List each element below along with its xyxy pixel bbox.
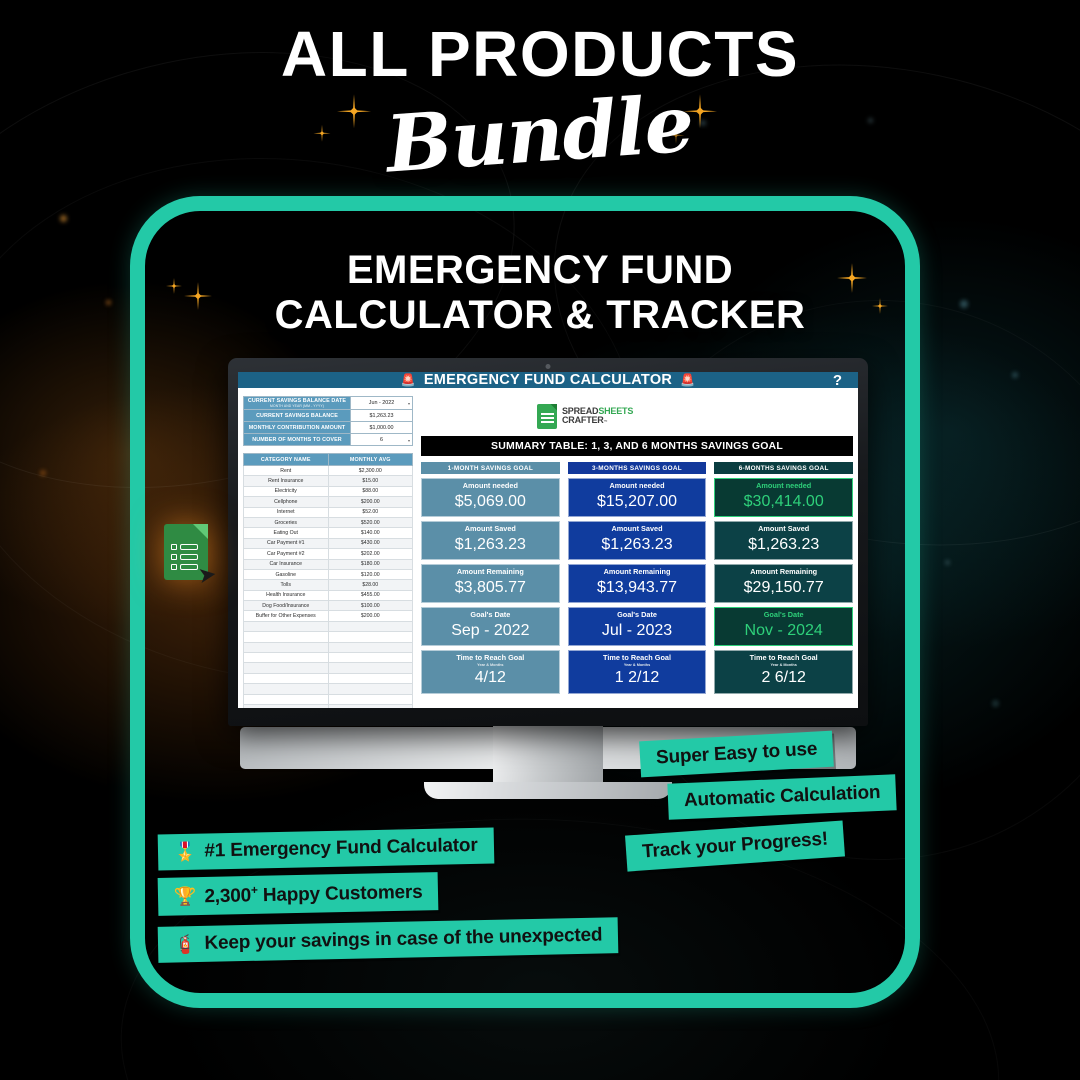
input-row: Current Savings Balance$1,263.23 (244, 410, 413, 422)
category-name-cell: Cellphone (244, 497, 329, 507)
table-row-empty (244, 621, 413, 631)
monitor-neck (493, 726, 603, 782)
summary-cell-label: Amount Saved (422, 525, 559, 534)
input-value-cell[interactable]: $1,000.00 (351, 422, 413, 434)
category-amount-cell: $455.00 (328, 590, 413, 600)
summary-cell: Amount Saved$1,263.23 (714, 521, 853, 560)
empty-cell (244, 663, 329, 673)
summary-cards: 1-MONTH SAVINGS GOALAmount needed$5,069.… (421, 462, 853, 708)
sheets-rows (171, 544, 198, 570)
empty-cell (244, 632, 329, 642)
table-row: Rent$2,300.00 (244, 466, 413, 476)
logo-fold (550, 404, 557, 411)
summary-cell-label: Amount Remaining (569, 568, 706, 577)
summary-cell: Amount Remaining$3,805.77 (421, 564, 560, 603)
summary-cell-value: Jul - 2023 (569, 621, 706, 640)
chevron-down-icon: ▾ (408, 438, 410, 443)
badge-label: Track your Progress! (641, 829, 828, 864)
summary-cell-value: 4/12 (422, 668, 559, 687)
empty-cell (244, 684, 329, 694)
headline-bundle-row: Bundle (0, 89, 1080, 181)
trophy-icon: 🏆 (174, 887, 197, 905)
summary-cell-value: $15,207.00 (569, 492, 706, 511)
categories-header-row: CATEGORY NAME MONTHLY AVG (244, 454, 413, 466)
badge-label: 2,300+ Happy Customers (204, 879, 423, 908)
summary-cell-value: $13,943.77 (569, 578, 706, 597)
empty-cell (328, 621, 413, 631)
summary-cell-value: $1,263.23 (715, 535, 852, 554)
category-name-cell: Dog Food/Insurance (244, 601, 329, 611)
summary-cell-value: $29,150.77 (715, 578, 852, 597)
headline-bundle: Bundle (384, 79, 697, 191)
summary-cell: Goal's DateNov - 2024 (714, 607, 853, 646)
summary-cell-label: Time to Reach GoalYear & Months (715, 654, 852, 668)
category-name-cell: Health Insurance (244, 590, 329, 600)
category-amount-cell: $120.00 (328, 569, 413, 579)
summary-cell: Amount Remaining$29,150.77 (714, 564, 853, 603)
table-row: Dog Food/Insurance$100.00 (244, 601, 413, 611)
table-row-empty (244, 673, 413, 683)
help-button[interactable]: ? (833, 372, 842, 389)
empty-cell (328, 704, 413, 708)
summary-cell-value: Nov - 2024 (715, 621, 852, 640)
app-title: EMERGENCY FUND CALCULATOR (424, 372, 672, 388)
category-name-cell: Buffer for Other Expenses (244, 611, 329, 621)
badge-label: Keep your savings in case of the unexpec… (204, 925, 602, 955)
summary-cell-label: Time to Reach GoalYear & Months (422, 654, 559, 668)
badge-label: Super Easy to use (656, 739, 818, 770)
summary-cell: Amount Saved$1,263.23 (421, 521, 560, 560)
empty-cell (328, 684, 413, 694)
summary-cell-value: $1,263.23 (569, 535, 706, 554)
table-row-empty (244, 642, 413, 652)
empty-cell (328, 642, 413, 652)
product-title-line2: CALCULATOR & TRACKER (0, 293, 1080, 338)
product-title: EMERGENCY FUND CALCULATOR & TRACKER (0, 248, 1080, 338)
fire-extinguisher-icon: 🧯 (174, 935, 197, 953)
category-name-cell: Rent (244, 466, 329, 476)
category-amount-cell: $140.00 (328, 528, 413, 538)
category-amount-cell: $15.00 (328, 476, 413, 486)
summary-cell-label: Time to Reach GoalYear & Months (569, 654, 706, 668)
badge-number-one-calculator: 🎖️ #1 Emergency Fund Calculator (158, 827, 494, 870)
category-name-cell: Electricity (244, 486, 329, 496)
category-name-cell: Eating Out (244, 528, 329, 538)
category-amount-cell: $200.00 (328, 497, 413, 507)
summary-cell-label: Amount Remaining (715, 568, 852, 577)
category-amount-cell: $520.00 (328, 517, 413, 527)
monitor-bezel: 🚨 EMERGENCY FUND CALCULATOR 🚨 ? Current … (228, 358, 868, 726)
summary-cell: Amount needed$15,207.00 (568, 478, 707, 517)
summary-cell: Amount needed$30,414.00 (714, 478, 853, 517)
spreadsheet-body: Current Savings Balance DateMONTH AND YE… (238, 390, 858, 708)
summary-card: 3-MONTHS SAVINGS GOALAmount needed$15,20… (568, 462, 707, 708)
category-amount-cell: $52.00 (328, 507, 413, 517)
summary-cell-label: Amount Saved (569, 525, 706, 534)
spreadsheet-logo-icon (537, 404, 557, 429)
monitor: 🚨 EMERGENCY FUND CALCULATOR 🚨 ? Current … (228, 358, 868, 799)
summary-cell: Amount Remaining$13,943.77 (568, 564, 707, 603)
table-row: Car Insurance$180.00 (244, 559, 413, 569)
logo-lines (541, 413, 554, 424)
bokeh-dot (1012, 372, 1018, 378)
summary-card-header: 3-MONTHS SAVINGS GOAL (568, 462, 707, 474)
table-row: Internet$52.00 (244, 507, 413, 517)
table-row: Groceries$520.00 (244, 517, 413, 527)
empty-cell (244, 653, 329, 663)
monitor-base (424, 782, 672, 799)
summary-cell-label: Amount needed (422, 482, 559, 491)
category-name-cell: Car Payment #2 (244, 549, 329, 559)
summary-cell-label: Amount needed (569, 482, 706, 491)
empty-cell (328, 663, 413, 673)
category-amount-cell: $2,300.00 (328, 466, 413, 476)
summary-cell-value: $1,263.23 (422, 535, 559, 554)
customers-count: 2,300 (204, 885, 251, 907)
empty-cell (244, 642, 329, 652)
input-label: Current Savings Balance DateMONTH AND YE… (244, 397, 351, 410)
input-row: Number of Months to Cover6▾ (244, 434, 413, 446)
category-amount-cell: $100.00 (328, 601, 413, 611)
summary-cell-sublabel: Year & Months (715, 663, 852, 668)
category-amount-cell: $88.00 (328, 486, 413, 496)
table-row-empty (244, 684, 413, 694)
category-amount-cell: $430.00 (328, 538, 413, 548)
bokeh-dot (60, 215, 67, 222)
input-value-cell[interactable]: Jun - 2022▾ (351, 397, 413, 410)
summary-cell: Time to Reach GoalYear & Months1 2/12 (568, 650, 707, 694)
google-sheets-icon[interactable]: ➤ (164, 524, 212, 584)
category-name-cell: Rent Insurance (244, 476, 329, 486)
table-row-empty (244, 653, 413, 663)
badge-label: #1 Emergency Fund Calculator (204, 835, 478, 863)
summary-cell-value: $30,414.00 (715, 492, 852, 511)
brand-logo: SPREADSHEETS CRAFTER™ (421, 396, 853, 436)
summary-cell-label: Goal's Date (422, 611, 559, 620)
bokeh-dot (945, 560, 950, 565)
category-amount-cell: $202.00 (328, 549, 413, 559)
app-header-bar: 🚨 EMERGENCY FUND CALCULATOR 🚨 ? (238, 372, 858, 390)
empty-cell (328, 653, 413, 663)
category-name-cell: Internet (244, 507, 329, 517)
empty-cell (244, 704, 329, 708)
table-row: Eating Out$140.00 (244, 528, 413, 538)
summary-cell-value: Sep - 2022 (422, 621, 559, 640)
input-value-cell[interactable]: $1,263.23 (351, 410, 413, 422)
input-label: Number of Months to Cover (244, 434, 351, 446)
summary-cell-value: $3,805.77 (422, 578, 559, 597)
bokeh-dot (992, 700, 999, 707)
summary-banner: SUMMARY TABLE: 1, 3, AND 6 MONTHS SAVING… (421, 436, 853, 456)
inputs-table: Current Savings Balance DateMONTH AND YE… (243, 396, 413, 446)
medal-icon: 🎖️ (174, 843, 197, 861)
right-panel: SPREADSHEETS CRAFTER™ SUMMARY TABLE: 1, … (421, 396, 853, 708)
brand-crafter: CRAFTER (562, 415, 604, 425)
summary-card-header: 1-MONTH SAVINGS GOAL (421, 462, 560, 474)
empty-cell (244, 694, 329, 704)
summary-cell-sublabel: Year & Months (422, 663, 559, 668)
siren-icon: 🚨 (401, 373, 416, 387)
webcam-icon (546, 364, 551, 369)
input-value-cell[interactable]: 6▾ (351, 434, 413, 446)
summary-cell: Amount Saved$1,263.23 (568, 521, 707, 560)
summary-cell: Goal's DateSep - 2022 (421, 607, 560, 646)
input-label: Monthly Contribution Amount (244, 422, 351, 434)
empty-cell (328, 673, 413, 683)
table-row: Electricity$88.00 (244, 486, 413, 496)
summary-cell: Amount needed$5,069.00 (421, 478, 560, 517)
chevron-down-icon: ▾ (408, 401, 410, 406)
app-header-title-group: 🚨 EMERGENCY FUND CALCULATOR 🚨 (250, 372, 846, 388)
mouse-cursor-icon: ➤ (196, 563, 217, 587)
bokeh-dot (40, 470, 46, 476)
summary-cell-label: Goal's Date (569, 611, 706, 620)
empty-cell (244, 673, 329, 683)
summary-cell-label: Amount needed (715, 482, 852, 491)
table-row-empty (244, 663, 413, 673)
customers-rest: Happy Customers (258, 882, 423, 906)
category-amount-cell: $180.00 (328, 559, 413, 569)
product-title-line1: EMERGENCY FUND (0, 248, 1080, 293)
summary-card: 6-MONTHS SAVINGS GOALAmount needed$30,41… (714, 462, 853, 708)
siren-icon: 🚨 (680, 373, 695, 387)
category-name-cell: Gasoline (244, 569, 329, 579)
summary-cell-label: Goal's Date (715, 611, 852, 620)
category-amount-cell: $28.00 (328, 580, 413, 590)
table-row: Health Insurance$455.00 (244, 590, 413, 600)
table-row: Cellphone$200.00 (244, 497, 413, 507)
category-name-cell: Car Insurance (244, 559, 329, 569)
col-header-category-name: CATEGORY NAME (244, 454, 329, 466)
summary-cell: Time to Reach GoalYear & Months2 6/12 (714, 650, 853, 694)
table-row-empty (244, 694, 413, 704)
category-name-cell: Tolls (244, 580, 329, 590)
brand-text: SPREADSHEETS CRAFTER™ (562, 407, 633, 425)
summary-cell-value: 1 2/12 (569, 668, 706, 687)
left-panel: Current Savings Balance DateMONTH AND YE… (243, 396, 413, 708)
table-row-empty (244, 632, 413, 642)
col-header-monthly-avg: MONTHLY AVG (328, 454, 413, 466)
table-row: Rent Insurance$15.00 (244, 476, 413, 486)
input-label: Current Savings Balance (244, 410, 351, 422)
table-row-empty (244, 704, 413, 708)
sheets-fold-corner (193, 524, 208, 539)
summary-card: 1-MONTH SAVINGS GOALAmount needed$5,069.… (421, 462, 560, 708)
empty-cell (244, 621, 329, 631)
brand-tm: ™ (604, 419, 608, 424)
category-amount-cell: $200.00 (328, 611, 413, 621)
table-row: Tolls$28.00 (244, 580, 413, 590)
spreadsheet-screen: 🚨 EMERGENCY FUND CALCULATOR 🚨 ? Current … (238, 372, 858, 708)
table-row: Car Payment #1$430.00 (244, 538, 413, 548)
input-row: Monthly Contribution Amount$1,000.00 (244, 422, 413, 434)
headline-all-products: ALL PRODUCTS (0, 22, 1080, 87)
summary-cell: Time to Reach GoalYear & Months4/12 (421, 650, 560, 694)
summary-cell-value: 2 6/12 (715, 668, 852, 687)
badge-label: Automatic Calculation (684, 782, 881, 812)
summary-card-header: 6-MONTHS SAVINGS GOAL (714, 462, 853, 474)
summary-cell-value: $5,069.00 (422, 492, 559, 511)
headline-block: ALL PRODUCTS Bundle (0, 22, 1080, 181)
summary-cell-label: Amount Remaining (422, 568, 559, 577)
category-name-cell: Car Payment #1 (244, 538, 329, 548)
table-row: Gasoline$120.00 (244, 569, 413, 579)
summary-cell: Goal's DateJul - 2023 (568, 607, 707, 646)
summary-cell-label: Amount Saved (715, 525, 852, 534)
badge-happy-customers: 🏆 2,300+ Happy Customers (158, 872, 439, 916)
table-row: Car Payment #2$202.00 (244, 549, 413, 559)
category-name-cell: Groceries (244, 517, 329, 527)
input-row: Current Savings Balance DateMONTH AND YE… (244, 397, 413, 410)
empty-cell (328, 694, 413, 704)
categories-table: CATEGORY NAME MONTHLY AVG Rent$2,300.00R… (243, 453, 413, 708)
summary-cell-sublabel: Year & Months (569, 663, 706, 668)
empty-cell (328, 632, 413, 642)
table-row: Buffer for Other Expenses$200.00 (244, 611, 413, 621)
